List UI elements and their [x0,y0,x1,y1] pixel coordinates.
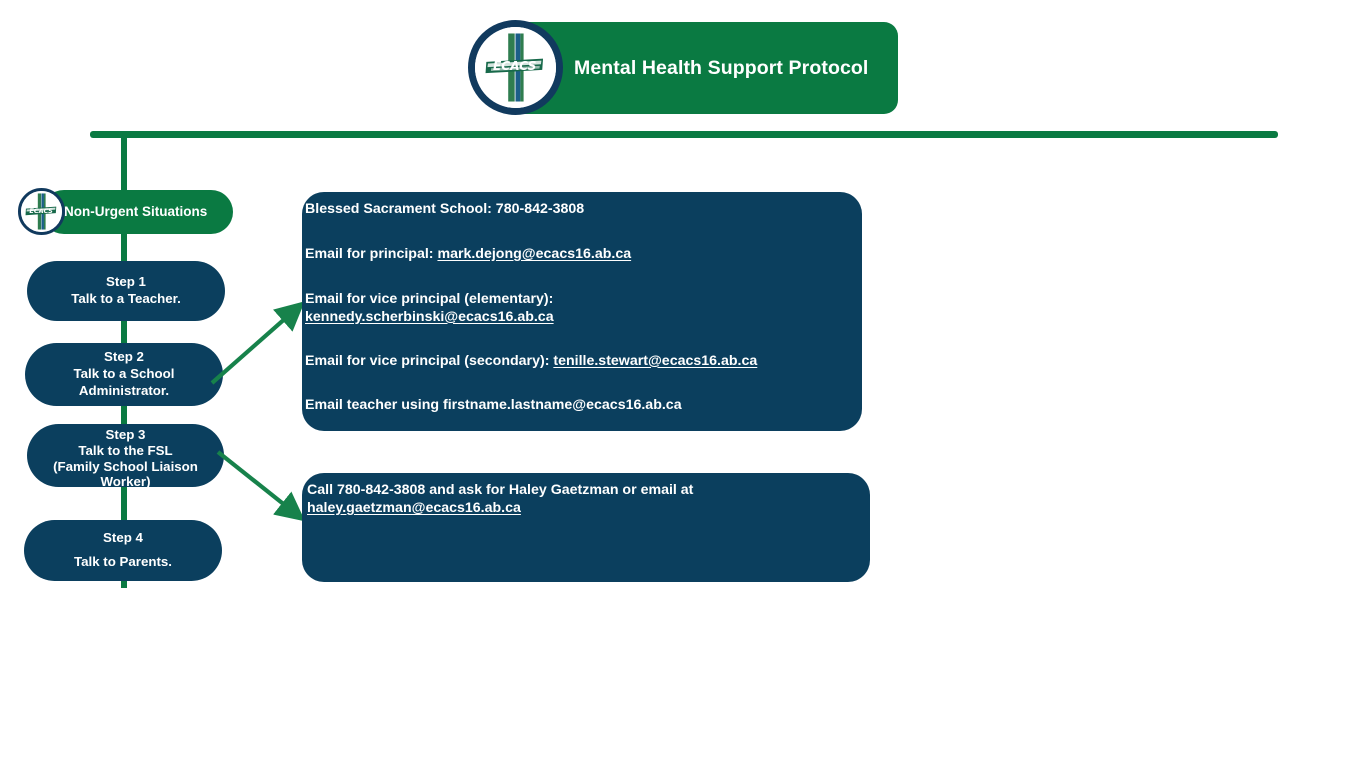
teacher-email-line: Email teacher using firstname.lastname@e… [302,397,844,415]
ecacs-cross-logo-icon: ECACS [468,20,563,115]
step-4-label: Step 4 [103,530,143,547]
spacer [302,370,844,397]
fsl-email-line: haley.gaetzman@ecacs16.ab.ca [302,500,852,518]
category-pill-non-urgent[interactable]: Non-Urgent Situations [42,190,233,234]
vp-elementary-line: Email for vice principal (elementary): k… [302,291,844,327]
step-pill-2[interactable]: Step 2 Talk to a SchoolAdministrator. [25,343,223,406]
step-3-label: Step 3 [24,427,227,443]
vp-elementary-email-link[interactable]: kennedy.scherbinski@ecacs16.ab.ca [305,309,844,327]
step-pill-1[interactable]: Step 1 Talk to a Teacher. [27,261,225,321]
step-1-label: Step 1 [106,274,146,291]
ecacs-cross-logo-icon: ECACS [18,188,65,235]
spacer [302,327,844,353]
step-1-description: Talk to a Teacher. [71,291,181,308]
contacts-panel: Blessed Sacrament School: 780-842-3808 E… [302,192,862,431]
step-2-description: Talk to a SchoolAdministrator. [74,366,175,400]
category-pill-label: Non-Urgent Situations [64,203,207,220]
fsl-call-line: Call 780-842-3808 and ask for Haley Gaet… [302,482,852,500]
spacer [302,264,844,291]
fsl-contact-panel: Call 780-842-3808 and ask for Haley Gaet… [302,473,870,582]
school-phone-line: Blessed Sacrament School: 780-842-3808 [302,201,844,219]
flowchart-canvas: Mental Health Support Protocol ECACS Non… [0,0,1366,768]
step-2-label: Step 2 [104,349,144,366]
vp-secondary-email-link[interactable]: tenille.stewart@ecacs16.ab.ca [553,353,757,369]
step-pill-3[interactable]: Step 3 Talk to the FSL(Family School Lia… [27,424,224,487]
vp-secondary-line: Email for vice principal (secondary): te… [302,353,844,371]
spacer [302,219,844,246]
vp-elementary-label: Email for vice principal (elementary): [305,291,553,307]
principal-email-label: Email for principal: [305,246,437,262]
step-pill-4[interactable]: Step 4 Talk to Parents. [24,520,222,581]
page-title: Mental Health Support Protocol [574,57,868,80]
step-3-text-group: Step 3 Talk to the FSL(Family School Lia… [24,427,227,490]
step-4-description: Talk to Parents. [74,554,172,571]
connector-horizontal-rail [90,131,1278,138]
principal-email-link[interactable]: mark.dejong@ecacs16.ab.ca [437,246,631,262]
svg-text:ECACS: ECACS [29,207,53,215]
fsl-email-link[interactable]: haley.gaetzman@ecacs16.ab.ca [307,500,521,516]
step-3-description: Talk to the FSL(Family School LiaisonWor… [24,443,227,490]
principal-email-line: Email for principal: mark.dejong@ecacs16… [302,246,844,264]
arrow-step3-to-fsl [216,448,311,528]
svg-text:ECACS: ECACS [493,59,537,73]
vp-secondary-label: Email for vice principal (secondary): [305,353,553,369]
arrow-step2-to-contacts [210,295,310,385]
